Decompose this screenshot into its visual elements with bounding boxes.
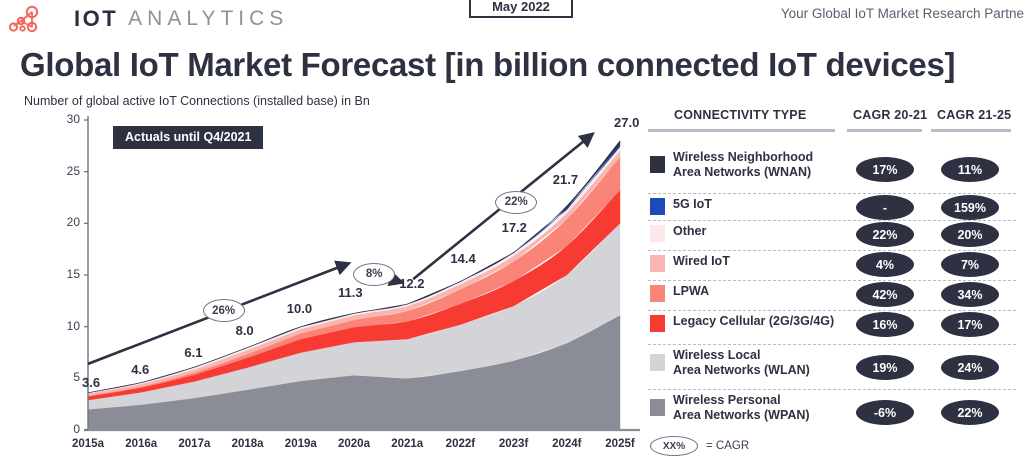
x-axis-tick: 2025f	[592, 438, 648, 450]
chart-subtitle: Number of global active IoT Connections …	[24, 94, 370, 108]
x-axis-tick: 2021a	[379, 438, 435, 450]
brand-name-secondary: ANALYTICS	[128, 7, 288, 31]
x-axis-tick: 2018a	[220, 438, 276, 450]
brand-name-primary: IOT	[74, 6, 118, 32]
cagr-bubble: 26%	[203, 299, 245, 322]
data-label: 3.6	[82, 375, 100, 390]
data-label: 17.2	[502, 220, 527, 235]
legend-row-label: LPWA	[673, 284, 709, 299]
tagline: Your Global IoT Market Research Partne	[781, 6, 1024, 21]
cagr-21-25-pill: 34%	[941, 282, 999, 307]
legend-header-type: CONNECTIVITY TYPE	[674, 108, 806, 122]
legend-row-label: Wired IoT	[673, 254, 730, 269]
legend-row[interactable]: Wireless LocalArea Networks (WLAN)19%24%	[648, 348, 1024, 393]
x-axis-tick: 2016a	[113, 438, 169, 450]
legend-row-label: Wireless LocalArea Networks (WLAN)	[673, 348, 810, 377]
area-chart: Actuals until Q4/2021 051015202530 2015a…	[0, 110, 655, 459]
legend-row-label: Legacy Cellular (2G/3G/4G)	[673, 314, 834, 329]
legend-row-separator	[648, 310, 1016, 311]
legend-label-line1: 5G IoT	[673, 197, 712, 212]
cagr-21-25-pill: 7%	[941, 252, 999, 277]
legend-color-swatch	[650, 156, 665, 173]
y-axis-tick: 10	[54, 319, 80, 333]
cagr-20-21-pill: 4%	[856, 252, 914, 277]
legend-label-line1: Legacy Cellular (2G/3G/4G)	[673, 314, 834, 329]
legend-label-line1: Wireless Local	[673, 348, 810, 363]
legend-row-separator	[648, 250, 1016, 251]
y-axis-tick: 5	[54, 370, 80, 384]
legend-row-separator	[648, 344, 1016, 345]
cagr-21-25-pill: 24%	[941, 355, 999, 380]
cagr-21-25-pill: 17%	[941, 312, 999, 337]
legend-row-separator	[648, 280, 1016, 281]
cagr-20-21-pill: 17%	[856, 157, 914, 182]
x-axis-tick: 2024f	[539, 438, 595, 450]
legend-label-line1: LPWA	[673, 284, 709, 299]
cagr-20-21-pill: 42%	[856, 282, 914, 307]
legend-label-line2: Area Networks (WPAN)	[673, 408, 810, 423]
legend-header-cagr-20-21: CAGR 20-21	[853, 108, 927, 122]
legend-color-swatch	[650, 198, 665, 215]
header-rule-cagr-1	[847, 129, 922, 132]
data-label: 27.0	[614, 115, 639, 130]
legend-row-separator	[648, 389, 1016, 390]
x-axis-tick: 2019a	[273, 438, 329, 450]
legend-row[interactable]: Legacy Cellular (2G/3G/4G)16%17%	[648, 314, 1024, 348]
x-axis-tick: 2017a	[166, 438, 222, 450]
data-label: 12.2	[399, 276, 424, 291]
legend-color-swatch	[650, 225, 665, 242]
legend-row-label: Wireless NeighborhoodArea Networks (WNAN…	[673, 150, 813, 179]
legend-label-line1: Wireless Personal	[673, 393, 810, 408]
brand-logo: IOT ANALYTICS	[8, 4, 288, 34]
x-axis-tick: 2023f	[486, 438, 542, 450]
legend-header-cagr-21-25: CAGR 21-25	[937, 108, 1011, 122]
legend-color-swatch	[650, 285, 665, 302]
header-rule-type	[648, 129, 835, 132]
x-axis-tick: 2015a	[60, 438, 116, 450]
cagr-20-21-pill: 19%	[856, 355, 914, 380]
page-title: Global IoT Market Forecast [in billion c…	[20, 46, 955, 84]
cagr-21-25-pill: 22%	[941, 400, 999, 425]
legend-row[interactable]: Wireless NeighborhoodArea Networks (WNAN…	[648, 150, 1024, 197]
x-axis-tick: 2020a	[326, 438, 382, 450]
legend-label-line2: Area Networks (WLAN)	[673, 363, 810, 378]
footnote-text: = CAGR	[706, 440, 749, 452]
legend-table: CONNECTIVITY TYPE CAGR 20-21 CAGR 21-25 …	[648, 108, 1024, 459]
data-label: 6.1	[184, 345, 202, 360]
data-label: 11.3	[338, 285, 363, 300]
header-rule-cagr-2	[931, 129, 1011, 132]
y-axis-tick: 25	[54, 164, 80, 178]
legend-row-label: Other	[673, 224, 706, 239]
footnote-pill: XX%	[650, 436, 698, 456]
x-axis-tick: 2022f	[432, 438, 488, 450]
legend-row-label: Wireless PersonalArea Networks (WPAN)	[673, 393, 810, 422]
actuals-badge: Actuals until Q4/2021	[113, 126, 263, 149]
legend-label-line2: Area Networks (WNAN)	[673, 165, 813, 180]
y-axis-tick: 30	[54, 112, 80, 126]
data-label: 10.0	[287, 301, 312, 316]
legend-label-line1: Wireless Neighborhood	[673, 150, 813, 165]
legend-label-line1: Wired IoT	[673, 254, 730, 269]
cagr-20-21-pill: -6%	[856, 400, 914, 425]
network-nodes-icon	[8, 4, 64, 34]
legend-color-swatch	[650, 255, 665, 272]
y-axis-tick: 15	[54, 267, 80, 281]
cagr-21-25-pill: 159%	[941, 195, 999, 220]
cagr-bubble: 8%	[353, 263, 395, 286]
cagr-20-21-pill: 16%	[856, 312, 914, 337]
cagr-21-25-pill: 11%	[941, 157, 999, 182]
cagr-21-25-pill: 20%	[941, 222, 999, 247]
legend-row-label: 5G IoT	[673, 197, 712, 212]
data-label: 4.6	[131, 362, 149, 377]
legend-row[interactable]: Wireless PersonalArea Networks (WPAN)-6%…	[648, 393, 1024, 438]
chart-canvas	[0, 110, 655, 459]
slide-root: IOT ANALYTICS May 2022 Your Global IoT M…	[0, 0, 1024, 459]
legend-label-line1: Other	[673, 224, 706, 239]
y-axis-tick: 20	[54, 215, 80, 229]
legend-color-swatch	[650, 315, 665, 332]
legend-color-swatch	[650, 399, 665, 416]
data-label: 14.4	[450, 251, 475, 266]
legend-row-separator	[648, 220, 1016, 221]
data-label: 21.7	[553, 172, 578, 187]
date-badge: May 2022	[469, 0, 573, 18]
cagr-bubble: 22%	[495, 191, 537, 214]
legend-color-swatch	[650, 354, 665, 371]
y-axis-tick: 0	[54, 422, 80, 436]
data-label: 8.0	[236, 323, 254, 338]
legend-row-separator	[648, 193, 1016, 194]
cagr-20-21-pill: 22%	[856, 222, 914, 247]
cagr-20-21-pill: -	[856, 195, 914, 220]
